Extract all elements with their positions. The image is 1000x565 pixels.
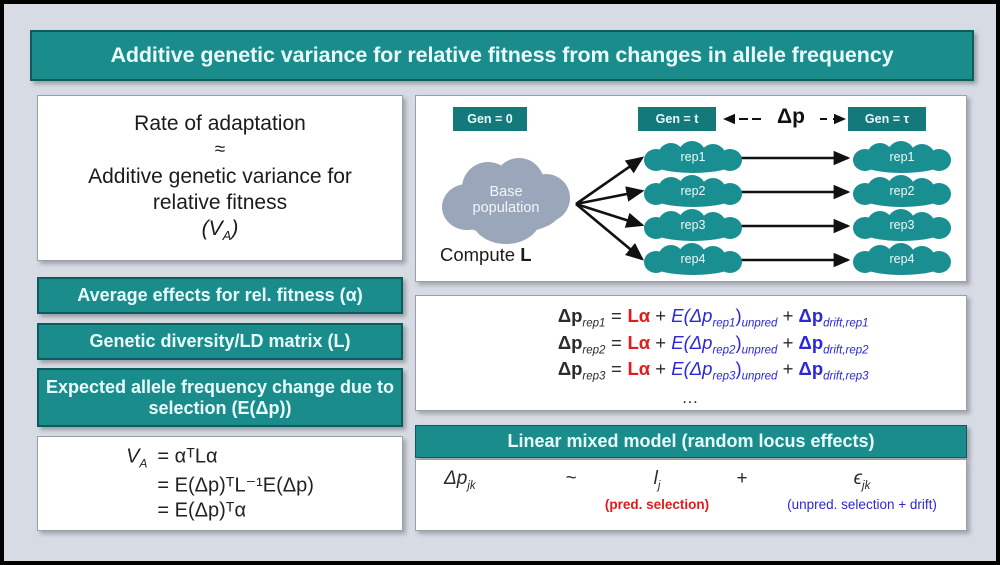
gen-t-label: Gen = t bbox=[638, 107, 716, 131]
rep-cloud-end-3-label: rep3 bbox=[853, 209, 951, 243]
delta-p-label: Δp bbox=[761, 102, 821, 132]
rep-cloud-end-2: rep2 bbox=[853, 175, 951, 209]
slide-title: Additive genetic variance for relative f… bbox=[110, 43, 893, 68]
rep-cloud-end-1: rep1 bbox=[853, 141, 951, 175]
average-effects-bar[interactable]: Average effects for rel. fitness (α) bbox=[37, 277, 403, 314]
rep-cloud-mid-2: rep2 bbox=[644, 175, 742, 209]
rep-cloud-mid-1: rep1 bbox=[644, 141, 742, 175]
va-equation-row-2: = E(Δp)ᵀL⁻¹E(Δp) bbox=[157, 472, 314, 497]
va-equation-row-3: = E(Δp)ᵀα bbox=[157, 499, 314, 522]
expected-change-label: Expected allele frequency change due to … bbox=[39, 377, 401, 417]
linear-mixed-model-box: Δpjk ~ lj + ϵjk (pred. selection) (unpre… bbox=[415, 459, 967, 531]
rate-line-1: Rate of adaptation bbox=[134, 111, 306, 137]
rate-line-2b: relative fitness bbox=[153, 190, 287, 216]
base-population-cloud: Base population bbox=[442, 158, 570, 244]
compute-l-label: Compute L bbox=[440, 244, 532, 266]
expected-change-bar[interactable]: Expected allele frequency change due to … bbox=[37, 368, 403, 427]
va-equation-box: VA = αᵀLα = E(Δp)ᵀL⁻¹E(Δp) = E(Δp)ᵀα bbox=[37, 436, 403, 531]
rep-cloud-mid-3: rep3 bbox=[644, 209, 742, 243]
rep-cloud-mid-2-label: rep2 bbox=[644, 175, 742, 209]
gen-0-label: Gen = 0 bbox=[453, 107, 527, 131]
va-symbol: (VA) bbox=[202, 216, 239, 244]
equations-ellipsis: … bbox=[682, 388, 701, 408]
rate-of-adaptation-box: Rate of adaptation ≈ Additive genetic va… bbox=[37, 95, 403, 261]
ld-matrix-label: Genetic diversity/LD matrix (L) bbox=[89, 331, 350, 351]
lmm-tilde: ~ bbox=[540, 468, 602, 490]
rep-cloud-end-3: rep3 bbox=[853, 209, 951, 243]
rep-cloud-mid-4: rep4 bbox=[644, 243, 742, 277]
gen-tau-label: Gen = τ bbox=[848, 107, 926, 131]
va-equation-lhs: VA bbox=[126, 445, 147, 470]
va-equation-row-1: = αᵀLα bbox=[157, 445, 314, 468]
decomposition-equation-row: Δprep2 = Lα + E(Δprep2)unpred + Δpdrift,… bbox=[513, 332, 868, 357]
experimental-design-diagram: Gen = 0 Gen = t Gen = τ bbox=[415, 95, 967, 282]
decomposition-equations-box: Δprep1 = Lα + E(Δprep1)unpred + Δpdrift,… bbox=[415, 295, 967, 411]
rep-cloud-end-4: rep4 bbox=[853, 243, 951, 277]
rep-cloud-end-2-label: rep2 bbox=[853, 175, 951, 209]
decomposition-equation-row: Δprep3 = Lα + E(Δprep3)unpred + Δpdrift,… bbox=[513, 358, 868, 383]
rate-line-2a: Additive genetic variance for bbox=[88, 164, 352, 190]
linear-mixed-model-header: Linear mixed model (random locus effects… bbox=[415, 425, 967, 458]
approx-symbol: ≈ bbox=[215, 138, 225, 161]
base-population-line-2: population bbox=[473, 201, 540, 217]
rep-cloud-end-1-label: rep1 bbox=[853, 141, 951, 175]
lmm-random-caption: (unpred. selection + drift) bbox=[772, 497, 952, 512]
slide-title-bar: Additive genetic variance for relative f… bbox=[30, 30, 974, 81]
lmm-random-term: ϵjk bbox=[772, 468, 952, 492]
rep-cloud-mid-4-label: rep4 bbox=[644, 243, 742, 277]
average-effects-label: Average effects for rel. fitness (α) bbox=[77, 285, 363, 305]
rep-cloud-mid-1-label: rep1 bbox=[644, 141, 742, 175]
lmm-plus: + bbox=[712, 468, 772, 490]
lmm-response: Δpjk bbox=[444, 468, 540, 492]
linear-mixed-model-header-label: Linear mixed model (random locus effects… bbox=[507, 431, 874, 451]
rep-cloud-mid-3-label: rep3 bbox=[644, 209, 742, 243]
base-population-line-1: Base bbox=[473, 185, 540, 201]
ld-matrix-bar[interactable]: Genetic diversity/LD matrix (L) bbox=[37, 323, 403, 360]
slide-canvas: Additive genetic variance for relative f… bbox=[4, 4, 996, 561]
lmm-fixed-caption: (pred. selection) bbox=[602, 497, 712, 512]
rep-cloud-end-4-label: rep4 bbox=[853, 243, 951, 277]
decomposition-equation-row: Δprep1 = Lα + E(Δprep1)unpred + Δpdrift,… bbox=[513, 305, 868, 330]
lmm-fixed-term: lj bbox=[602, 468, 712, 492]
